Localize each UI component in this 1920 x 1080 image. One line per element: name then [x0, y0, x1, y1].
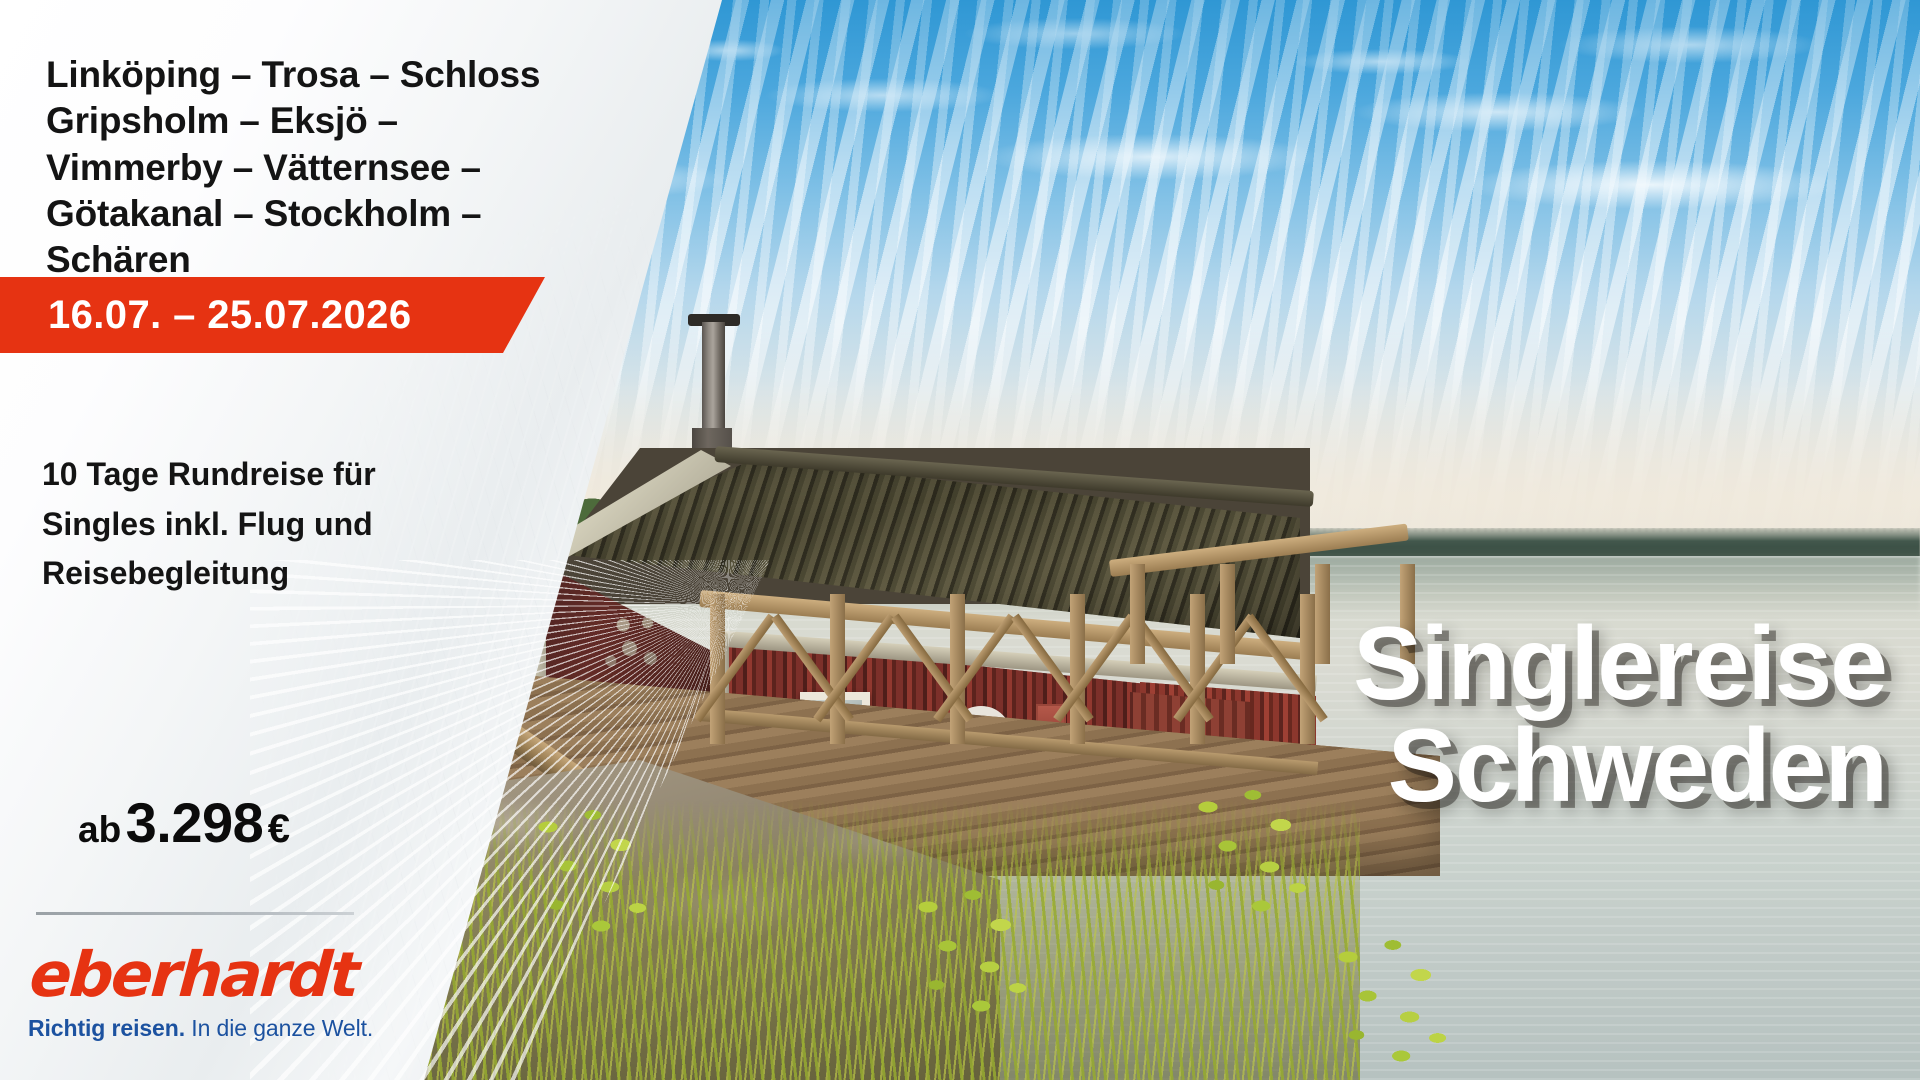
price-amount: 3.298	[126, 791, 264, 854]
brand-tagline: Richtig reisen. In die ganze Welt.	[28, 1015, 373, 1042]
price-block: ab 3.298 €	[78, 790, 290, 855]
railing-post	[950, 594, 965, 744]
railing-post	[830, 594, 845, 744]
headline-line-1: Singlereise	[1353, 614, 1886, 716]
headline-line-2: Schweden	[1353, 716, 1886, 818]
railing-brace	[813, 614, 896, 723]
price-prefix: ab	[78, 809, 121, 850]
trip-description: 10 Tage Rundreise für Singles inkl. Flug…	[42, 450, 462, 599]
shrub	[900, 880, 1040, 1030]
pier-post	[1315, 564, 1330, 664]
pier-post	[1220, 564, 1235, 664]
price-currency: €	[268, 807, 290, 851]
shrub	[1180, 780, 1320, 930]
logo-divider	[36, 912, 354, 915]
eberhardt-logo: eberhardt	[27, 938, 359, 1011]
route-title: Linköping – Trosa – Schloss Gripsholm – …	[46, 52, 566, 283]
date-banner: 16.07. – 25.07.2026	[0, 277, 545, 353]
pier-post	[1130, 564, 1145, 664]
headline: Singlereise Schweden	[1353, 614, 1886, 818]
railing-post	[1070, 594, 1085, 744]
tagline-bold: Richtig reisen.	[28, 1015, 185, 1041]
tagline-rest: In die ganze Welt.	[185, 1015, 373, 1041]
banner-stage: Singlereise Schweden Linköping – Trosa –…	[0, 0, 1920, 1080]
date-range-text: 16.07. – 25.07.2026	[48, 293, 411, 338]
shrub	[1320, 930, 1460, 1080]
